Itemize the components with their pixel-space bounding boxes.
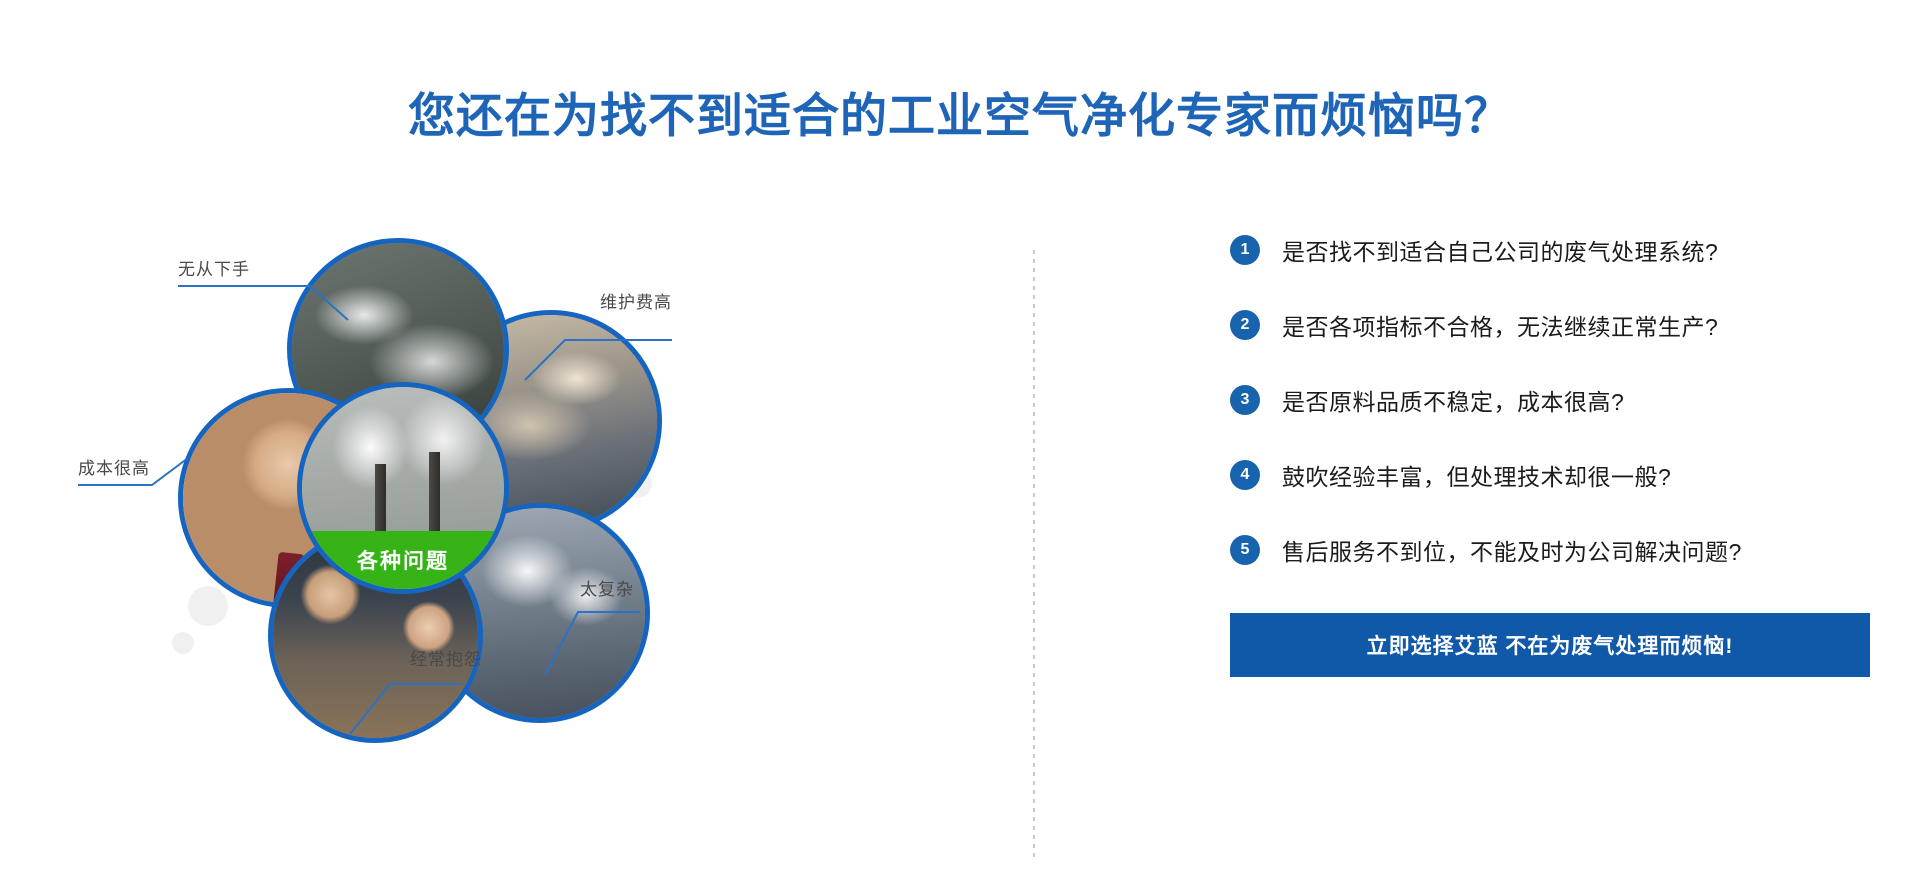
cta-button[interactable]: 立即选择艾蓝 不在为废气处理而烦恼! xyxy=(1230,613,1870,677)
question-text: 是否各项指标不合格，无法继续正常生产? xyxy=(1282,308,1718,342)
problem-flower-diagram: 各种问题 无从下手 维护费高 成本很高 xyxy=(0,200,1000,875)
list-item[interactable]: 1 是否找不到适合自己公司的废气处理系统? xyxy=(1230,212,1870,287)
question-number-badge: 4 xyxy=(1230,460,1260,490)
callout-bottom-left: 经常抱怨 xyxy=(0,200,1000,875)
vertical-divider xyxy=(1033,250,1035,860)
question-number-badge: 2 xyxy=(1230,310,1260,340)
question-text: 是否找不到适合自己公司的废气处理系统? xyxy=(1282,233,1718,267)
list-item[interactable]: 2 是否各项指标不合格，无法继续正常生产? xyxy=(1230,287,1870,362)
questions-panel: 1 是否找不到适合自己公司的废气处理系统? 2 是否各项指标不合格，无法继续正常… xyxy=(1230,212,1870,677)
question-number-badge: 5 xyxy=(1230,535,1260,565)
callout-line-bottom-left xyxy=(0,200,1000,875)
question-text: 鼓吹经验丰富，但处理技术却很一般? xyxy=(1282,458,1671,492)
question-text: 售后服务不到位，不能及时为公司解决问题? xyxy=(1282,533,1742,567)
question-number-badge: 1 xyxy=(1230,235,1260,265)
callout-label-bottom-left: 经常抱怨 xyxy=(410,645,482,670)
promo-section: 您还在为找不到适合的工业空气净化专家而烦恼吗？ xyxy=(0,0,1920,875)
list-item[interactable]: 5 售后服务不到位，不能及时为公司解决问题? xyxy=(1230,512,1870,587)
list-item[interactable]: 4 鼓吹经验丰富，但处理技术却很一般? xyxy=(1230,437,1870,512)
question-number-badge: 3 xyxy=(1230,385,1260,415)
question-text: 是否原料品质不稳定，成本很高? xyxy=(1282,383,1624,417)
list-item[interactable]: 3 是否原料品质不稳定，成本很高? xyxy=(1230,362,1870,437)
page-title: 您还在为找不到适合的工业空气净化专家而烦恼吗？ xyxy=(0,88,1920,144)
questions-list: 1 是否找不到适合自己公司的废气处理系统? 2 是否各项指标不合格，无法继续正常… xyxy=(1230,212,1870,587)
